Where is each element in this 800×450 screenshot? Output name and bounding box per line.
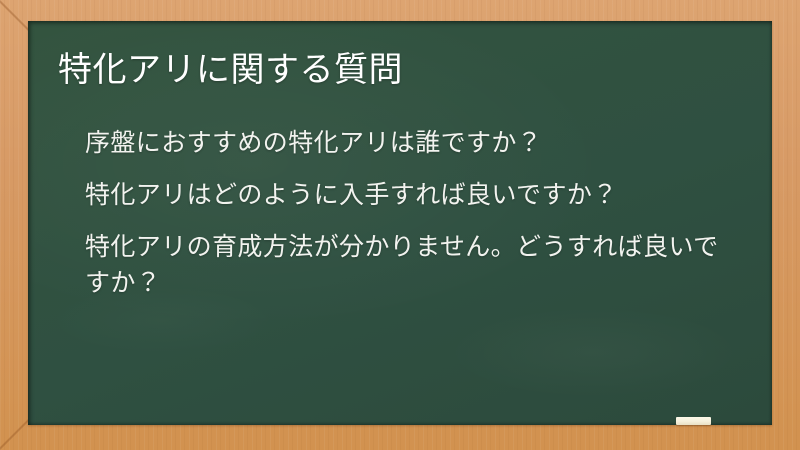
page-title: 特化アリに関する質問 [58, 48, 403, 92]
chalkboard-surface: 特化アリに関する質問 序盤におすすめの特化アリは誰ですか？ 特化アリはどのように… [28, 21, 772, 425]
chalk-stick [676, 417, 711, 425]
question-list: 序盤におすすめの特化アリは誰ですか？ 特化アリはどのように入手すれば良いですか？… [85, 125, 734, 301]
chalkboard-screenshot: 特化アリに関する質問 序盤におすすめの特化アリは誰ですか？ 特化アリはどのように… [0, 0, 800, 450]
list-item: 序盤におすすめの特化アリは誰ですか？ [85, 125, 734, 161]
list-item: 特化アリの育成方法が分かりません。どうすれば良いですか？ [85, 229, 734, 301]
list-item: 特化アリはどのように入手すれば良いですか？ [85, 177, 734, 213]
